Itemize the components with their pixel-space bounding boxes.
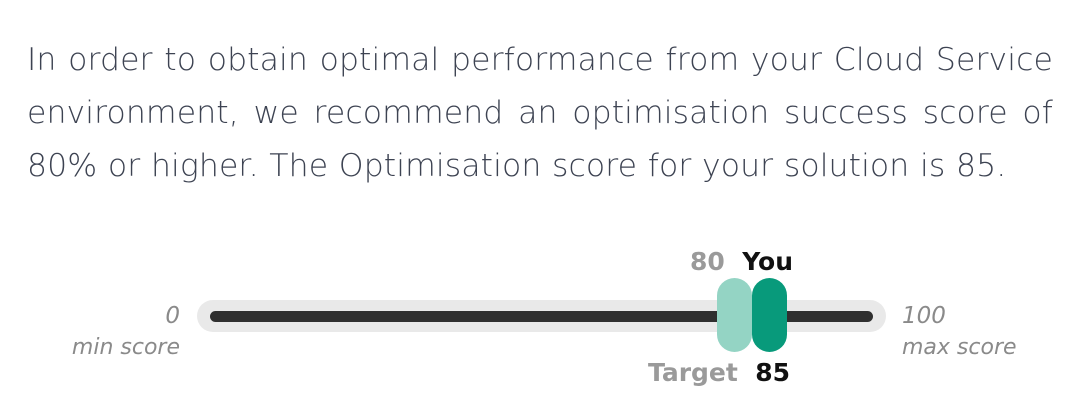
gauge-min-endpoint: 0 min score bbox=[72, 300, 180, 364]
gauge-marker-you[interactable] bbox=[752, 278, 787, 352]
gauge-min-caption: min score bbox=[72, 332, 180, 364]
gauge-max-endpoint: 100 max score bbox=[902, 300, 1017, 364]
gauge-max-value: 100 bbox=[902, 300, 1017, 332]
gauge-you-name-label: You bbox=[742, 247, 793, 276]
gauge-min-value: 0 bbox=[72, 300, 180, 332]
callout-spacer-top bbox=[725, 247, 742, 276]
gauge-callout-you: 80 You bbox=[690, 247, 793, 277]
callout-spacer-bottom bbox=[738, 358, 755, 387]
gauge-target-name-label: Target bbox=[648, 358, 738, 387]
gauge-callout-target: Target 85 bbox=[648, 358, 790, 388]
gauge-max-caption: max score bbox=[902, 332, 1017, 364]
gauge-you-value-label: 85 bbox=[755, 358, 790, 387]
gauge-target-value-label: 80 bbox=[690, 247, 725, 276]
gauge-marker-target[interactable] bbox=[717, 278, 752, 352]
optimisation-score-gauge: 0 min score 100 max score 80 You Target … bbox=[0, 230, 1083, 408]
intro-paragraph: In order to obtain optimal performance f… bbox=[27, 34, 1053, 193]
